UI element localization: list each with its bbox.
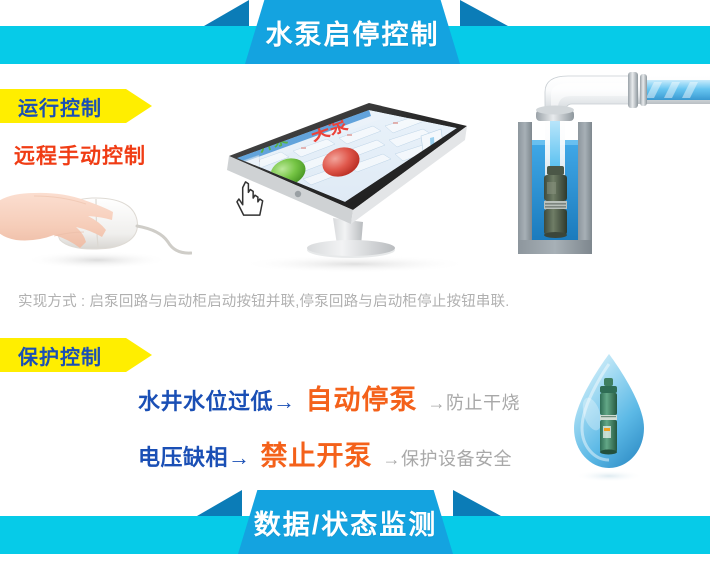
bottom-banner-fold-right — [453, 490, 501, 516]
protection-rule-action: 禁止开泵 — [261, 434, 373, 473]
infographic-page: 水泵启停控制 运行控制 远程手动控制 — [0, 0, 710, 564]
top-banner-fold-left — [204, 0, 249, 26]
bottom-banner-ribbon: 数据/状态监测 — [238, 490, 453, 554]
protection-rule-row: 电压缺相→ 禁止开泵 →保护设备安全 — [138, 434, 512, 473]
protection-rule-row: 水井水位过低→ 自动停泵 →防止干烧 — [138, 378, 520, 417]
section-tag-run-control-label: 运行控制 — [18, 92, 102, 121]
water-droplet-pump-icon — [556, 352, 662, 482]
hand-on-mouse-image — [0, 160, 192, 270]
well-pump-illustration — [492, 62, 710, 262]
protection-rule-benefit: →保护设备安全 — [383, 445, 513, 471]
top-banner-title: 水泵启停控制 — [266, 13, 440, 52]
top-banner-fold-right — [460, 0, 508, 26]
protection-rule-benefit: →防止干烧 — [428, 389, 521, 415]
section-tag-protection-control: 保护控制 — [0, 338, 152, 372]
section-tag-protection-control-label: 保护控制 — [18, 341, 102, 370]
protection-rule-action: 自动停泵 — [306, 378, 418, 417]
desktop-monitor-image: 开泵 关泵 — [185, 98, 515, 273]
protection-rule-cause: 电压缺相→ — [138, 440, 251, 472]
implementation-note: 实现方式 : 启泵回路与启动柜启动按钮并联,停泵回路与启动柜停止按钮串联. — [18, 290, 510, 311]
top-banner-ribbon: 水泵启停控制 — [245, 0, 460, 64]
cursor-hand-icon — [237, 182, 263, 215]
section-tag-run-control: 运行控制 — [0, 89, 152, 123]
bottom-banner-title: 数据/状态监测 — [254, 503, 438, 542]
protection-rule-cause: 水井水位过低→ — [138, 384, 296, 416]
bottom-banner-fold-left — [197, 490, 242, 516]
